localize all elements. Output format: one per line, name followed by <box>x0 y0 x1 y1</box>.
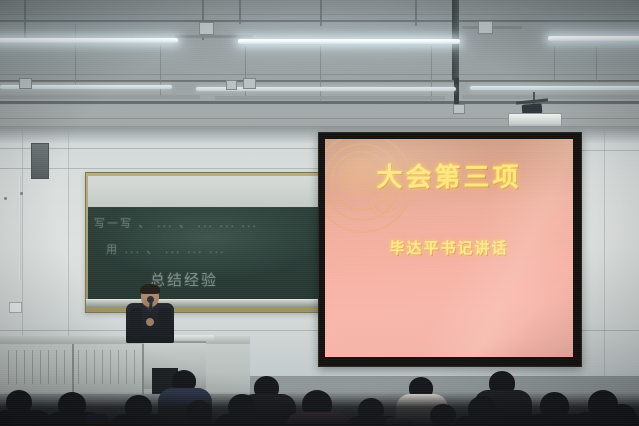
screen-glare <box>325 139 573 357</box>
chalk-writing-line: 写一写 、 ... 、 ... ... ... <box>94 215 258 231</box>
wall-speaker-box <box>31 143 49 179</box>
light-fixture-box <box>453 104 465 114</box>
light-fixture-bar <box>462 95 639 99</box>
speaker-hair <box>140 284 160 294</box>
light-suspension-rod <box>415 0 417 26</box>
speaker-arm <box>158 308 171 338</box>
light-fixture-box <box>199 22 214 35</box>
wall-seam <box>604 130 605 378</box>
lecture-hall-photo: 写一写 、 ... 、 ... ... ... 用 ... 、 ... ... … <box>0 0 639 426</box>
light-suspension-rod <box>245 46 246 100</box>
light-fixture-box <box>478 21 493 34</box>
wall-fixing-dot <box>20 192 23 195</box>
chalk-writing-line: 总结经验 <box>150 269 218 290</box>
light-suspension-rod <box>75 24 76 84</box>
light-suspension-rod <box>320 0 322 26</box>
chalkboard-upper-panel <box>88 176 319 207</box>
wall-outlet <box>9 302 22 313</box>
speaker-hand <box>146 318 154 326</box>
light-fixture-bar <box>0 95 200 99</box>
wall-seam <box>580 150 639 151</box>
speaker-arm <box>130 308 142 338</box>
light-fixture-box <box>19 78 32 89</box>
light-fixture-bar <box>175 35 253 38</box>
light-fixture-bar <box>215 96 445 100</box>
light-suspension-rod <box>320 46 321 102</box>
light-suspension-rod <box>239 0 241 24</box>
fluorescent-light <box>0 38 178 43</box>
audience-foreground-shadow <box>0 392 639 426</box>
chalk-writing-line: 用 ... 、 ... ... ... <box>106 241 225 257</box>
wall-fixing-dot <box>4 197 7 200</box>
light-suspension-rod <box>596 46 597 82</box>
light-suspension-rod <box>554 46 555 80</box>
light-suspension-rod <box>431 46 432 102</box>
microphone-head <box>147 296 154 303</box>
light-suspension-rod <box>24 0 26 40</box>
fluorescent-light <box>470 86 639 90</box>
chalk-tray <box>86 299 321 307</box>
light-suspension-rod <box>160 46 161 98</box>
light-fixture-box <box>243 78 256 89</box>
light-fixture-box <box>226 80 237 90</box>
fluorescent-light <box>238 39 460 44</box>
fluorescent-light <box>548 36 639 41</box>
chalkboard-surface: 写一写 、 ... 、 ... ... ... 用 ... 、 ... ... … <box>88 207 319 299</box>
projection-screen: 大会第三项 毕达平书记讲话 <box>325 139 573 357</box>
